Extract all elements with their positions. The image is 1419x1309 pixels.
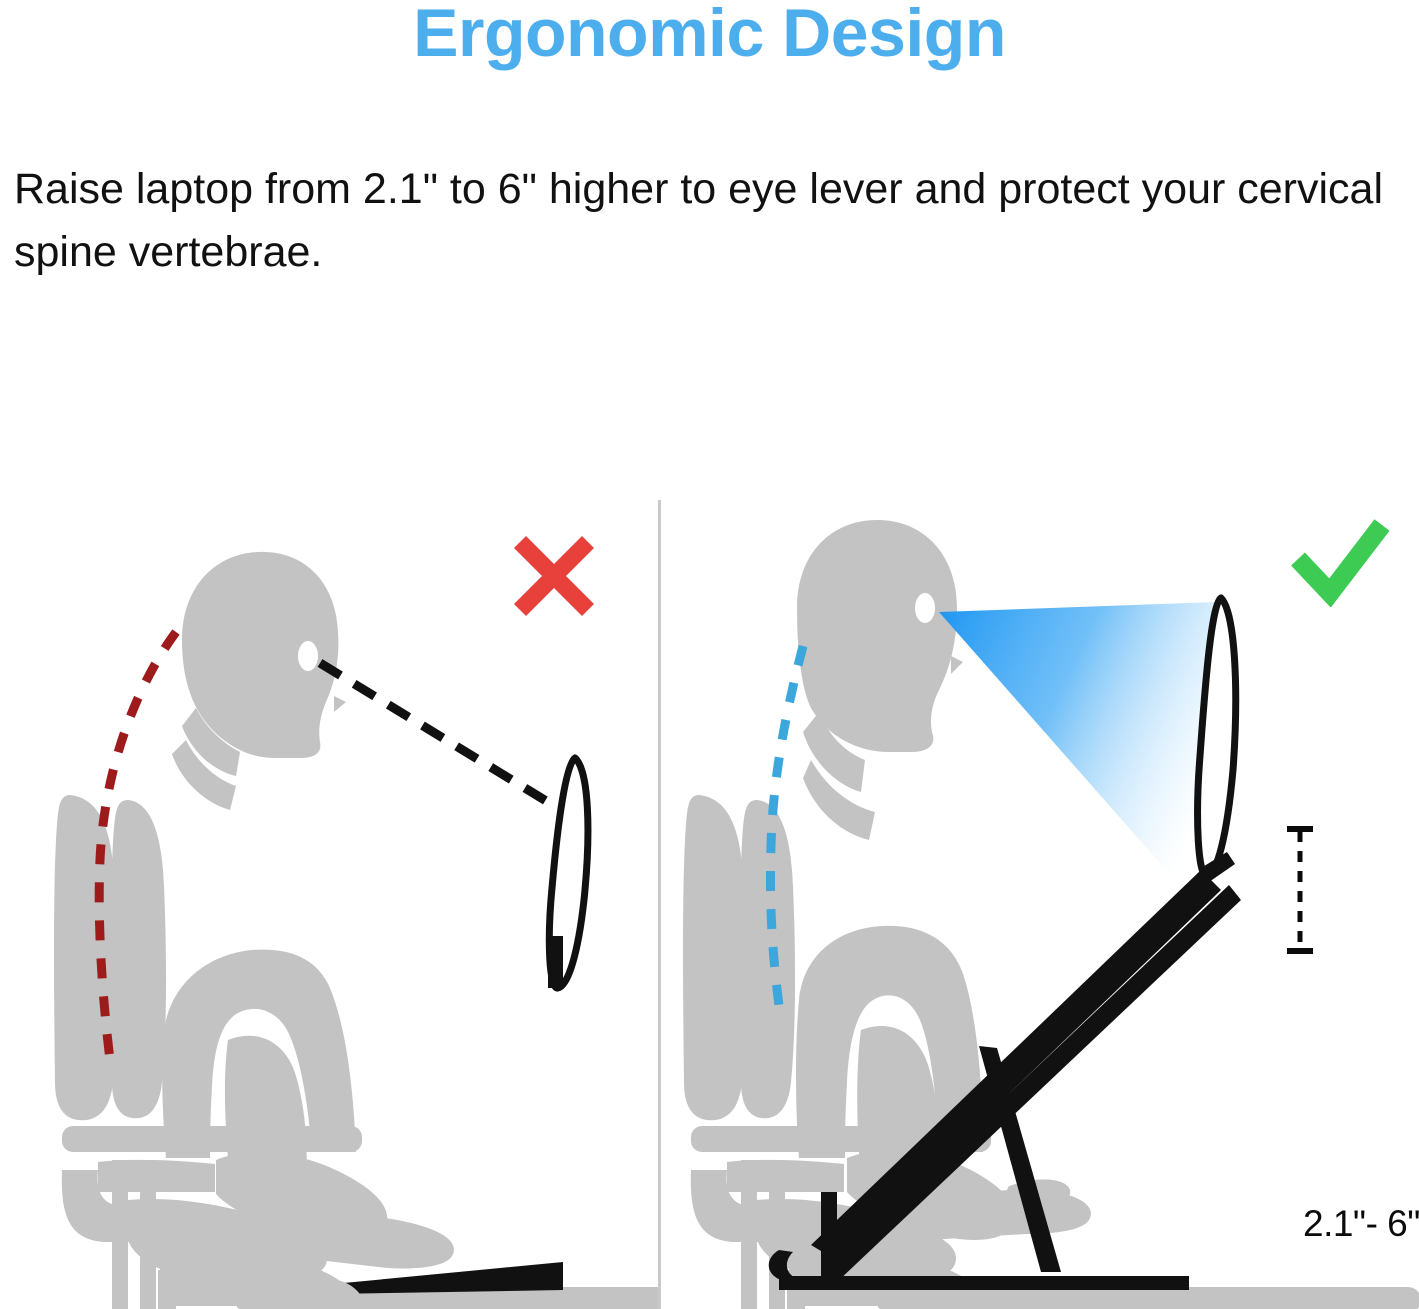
panel-bad-posture — [0, 340, 658, 1309]
chair-seat-plate-good — [727, 1160, 844, 1192]
stand-base-rail — [779, 1276, 1189, 1290]
vision-cone-good — [939, 602, 1217, 928]
chair-seat-plate — [98, 1160, 215, 1192]
comparison-illustration: 2.1"- 6" — [0, 340, 1419, 1309]
chair-backrest-outer — [54, 795, 117, 1120]
bad-posture-illustration — [0, 340, 658, 1309]
nose-bad — [334, 696, 346, 712]
eye-bad — [298, 641, 318, 671]
chair-backrest-outer-good — [683, 795, 746, 1120]
dimension-arrow — [1285, 825, 1315, 955]
page-title: Ergonomic Design — [0, 0, 1419, 71]
ergonomic-design-infographic: Ergonomic Design Raise laptop from 2.1" … — [0, 0, 1419, 1309]
dimension-label: 2.1"- 6" — [1303, 1203, 1419, 1245]
red-x-icon — [508, 530, 600, 622]
chair-backrest-inner — [111, 800, 166, 1118]
laptop-hinge-bad — [548, 936, 563, 988]
subtitle-text: Raise laptop from 2.1" to 6" higher to e… — [14, 158, 1404, 284]
sight-line-bad — [320, 663, 561, 810]
eye-good — [915, 593, 935, 623]
stand-rear-post — [821, 1192, 837, 1280]
green-check-icon — [1288, 515, 1392, 607]
laptop-base-bad — [333, 1262, 563, 1294]
header: Ergonomic Design Raise laptop from 2.1" … — [0, 0, 1419, 340]
nose-good — [951, 656, 963, 674]
